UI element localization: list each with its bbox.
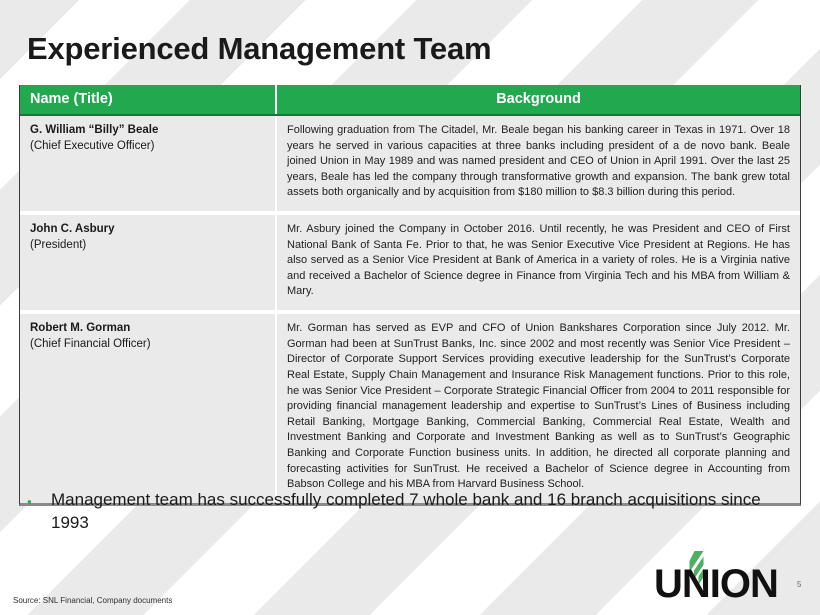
page-number: 5 [797, 580, 801, 589]
person-name: Robert M. Gorman [30, 321, 265, 337]
union-logo: UNION [654, 549, 784, 601]
table-row: G. William “Billy” Beale (Chief Executiv… [20, 115, 800, 213]
person-title: (Chief Financial Officer) [30, 337, 265, 353]
slide-canvas: Experienced Management Team Name (Title)… [0, 0, 820, 615]
background-cell: Mr. Gorman has served as EVP and CFO of … [276, 312, 800, 503]
union-wordmark: UNION [654, 562, 778, 601]
person-title: (President) [30, 238, 265, 254]
bullet-list: ▪ Management team has successfully compl… [27, 489, 797, 535]
source-note: Source: SNL Financial, Company documents [13, 596, 172, 605]
person-bio: Following graduation from The Citadel, M… [287, 123, 790, 201]
person-name: G. William “Billy” Beale [30, 123, 265, 139]
person-bio: Mr. Asbury joined the Company in October… [287, 222, 790, 300]
person-cell: John C. Asbury (President) [20, 213, 276, 312]
table-row: John C. Asbury (President) Mr. Asbury jo… [20, 213, 800, 312]
bullet-text: Management team has successfully complet… [51, 489, 797, 535]
management-team-table: Name (Title) Background G. William “Bill… [19, 85, 801, 506]
table-header-row: Name (Title) Background [20, 85, 800, 115]
table-row: Robert M. Gorman (Chief Financial Office… [20, 312, 800, 503]
bullet-marker-icon: ▪ [27, 489, 51, 512]
column-header-name: Name (Title) [20, 85, 276, 115]
person-title: (Chief Executive Officer) [30, 139, 265, 155]
background-cell: Mr. Asbury joined the Company in October… [276, 213, 800, 312]
person-cell: G. William “Billy” Beale (Chief Executiv… [20, 115, 276, 213]
person-cell: Robert M. Gorman (Chief Financial Office… [20, 312, 276, 503]
page-title: Experienced Management Team [27, 31, 491, 67]
person-name: John C. Asbury [30, 222, 265, 238]
column-header-background: Background [276, 85, 800, 115]
list-item: ▪ Management team has successfully compl… [27, 489, 797, 535]
person-bio: Mr. Gorman has served as EVP and CFO of … [287, 321, 790, 493]
background-cell: Following graduation from The Citadel, M… [276, 115, 800, 213]
